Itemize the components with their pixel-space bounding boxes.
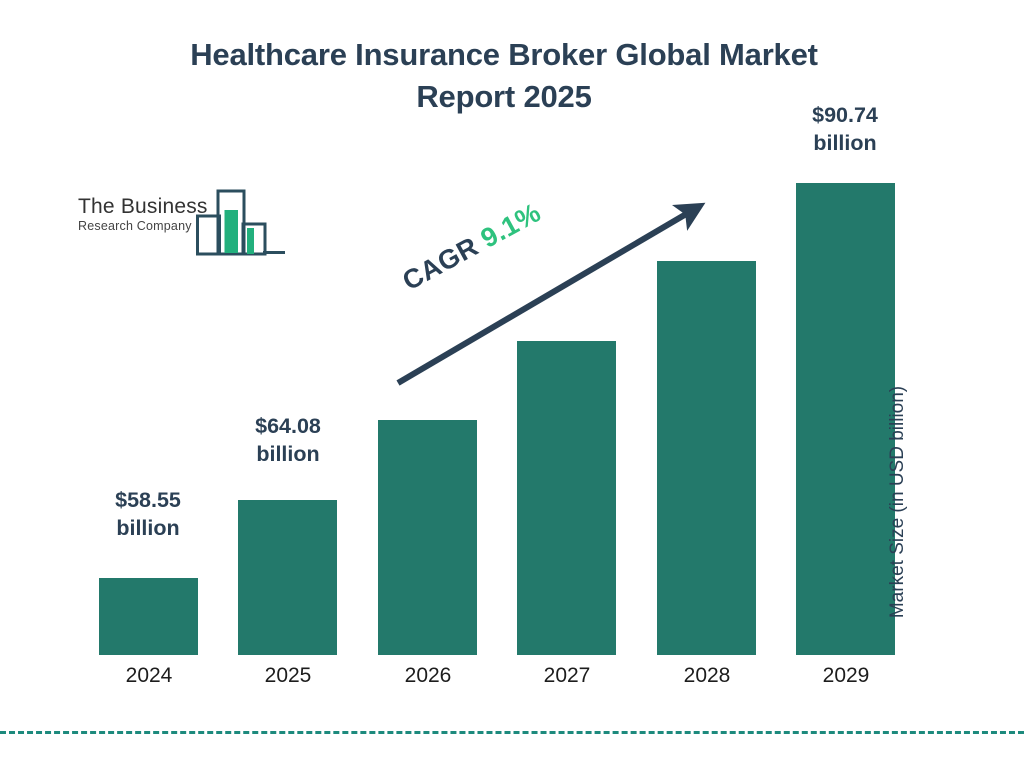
bar-label-2029-value: $90.74 xyxy=(781,101,909,129)
bar-2029 xyxy=(796,183,895,655)
bar-label-2025-unit: billion xyxy=(224,440,352,468)
x-tick-2025: 2025 xyxy=(228,664,348,688)
y-axis-title: Market Size (in USD billion) xyxy=(887,332,909,672)
bar-chart-plot: $58.55 billion 2024 $64.08 billion 2025 … xyxy=(0,0,1024,768)
chart-page: Healthcare Insurance Broker Global Marke… xyxy=(0,0,1024,768)
bar-2028 xyxy=(657,261,756,655)
footer-divider xyxy=(0,731,1024,734)
x-tick-2028: 2028 xyxy=(647,664,767,688)
bar-label-2024: $58.55 billion xyxy=(84,486,212,543)
bar-label-2025-value: $64.08 xyxy=(224,412,352,440)
bar-label-2024-value: $58.55 xyxy=(84,486,212,514)
bar-label-2029-unit: billion xyxy=(781,129,909,157)
bar-2026 xyxy=(378,420,477,655)
x-tick-2024: 2024 xyxy=(89,664,209,688)
x-tick-2026: 2026 xyxy=(368,664,488,688)
x-tick-2027: 2027 xyxy=(507,664,627,688)
bar-label-2025: $64.08 billion xyxy=(224,412,352,469)
bar-label-2024-unit: billion xyxy=(84,514,212,542)
bar-2024 xyxy=(99,578,198,655)
bar-label-2029: $90.74 billion xyxy=(781,101,909,158)
bar-2025 xyxy=(238,500,337,655)
bar-2027 xyxy=(517,341,616,655)
